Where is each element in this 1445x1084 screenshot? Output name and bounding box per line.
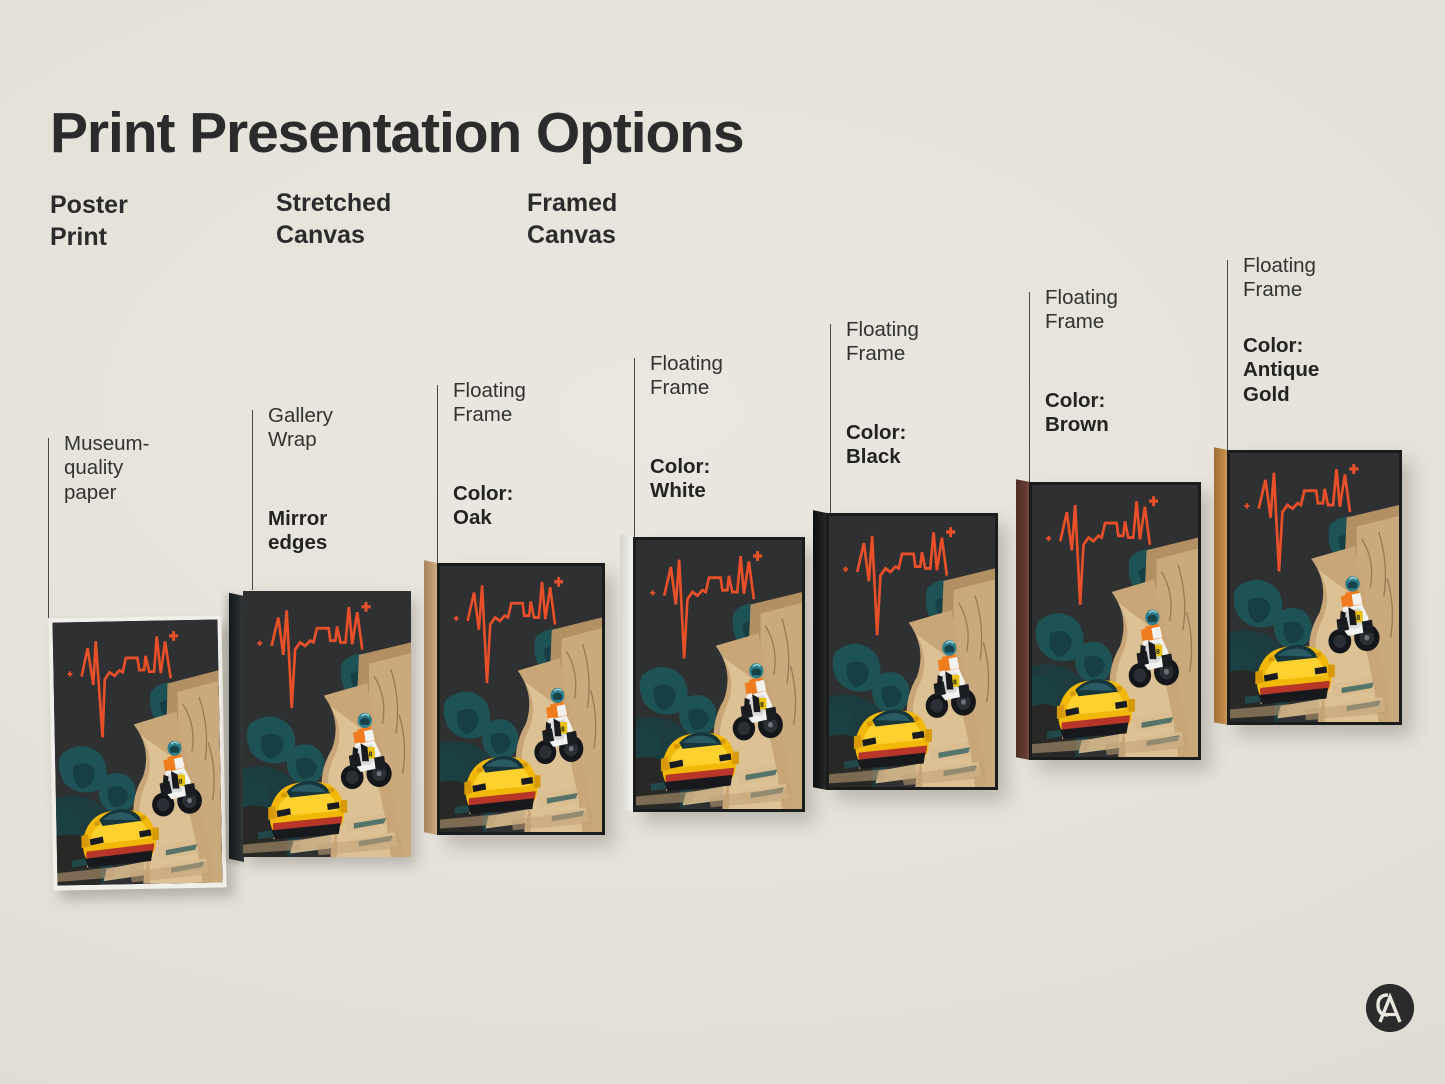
artwork-poster bbox=[52, 619, 222, 885]
leader-line bbox=[634, 358, 635, 538]
leader-line bbox=[830, 324, 831, 514]
canvas-mirror-edge bbox=[229, 593, 244, 862]
product-floating-frame-brown[interactable] bbox=[1029, 482, 1201, 760]
frame-side-white bbox=[620, 534, 634, 812]
callout-gold-sub: Color: Antique Gold bbox=[1243, 334, 1418, 407]
brand-logo bbox=[1366, 984, 1414, 1032]
frame-front-oak bbox=[437, 563, 605, 835]
product-poster-print[interactable] bbox=[48, 615, 226, 890]
leader-line bbox=[1029, 292, 1030, 482]
product-floating-frame-black[interactable] bbox=[826, 513, 998, 790]
product-floating-frame-white[interactable] bbox=[633, 537, 805, 812]
column-header-poster-print: Poster Print bbox=[50, 190, 128, 253]
callout-canvas-sub: Mirror edges bbox=[268, 507, 443, 556]
product-gallery-wrap-canvas[interactable] bbox=[243, 591, 411, 857]
leader-line bbox=[48, 438, 49, 618]
callout-brown-text: Floating Frame bbox=[1045, 286, 1220, 335]
callout-canvas-text: Gallery Wrap bbox=[268, 404, 443, 453]
callout-black-sub: Color: Black bbox=[846, 421, 1021, 470]
leader-line bbox=[1227, 260, 1228, 450]
page-title: Print Presentation Options bbox=[50, 100, 743, 166]
callout-poster-text: Museum- quality paper bbox=[64, 432, 239, 505]
callout-oak-sub: Color: Oak bbox=[453, 482, 628, 531]
callout-white-text: Floating Frame bbox=[650, 352, 825, 401]
frame-side-black bbox=[813, 510, 827, 790]
leader-line bbox=[437, 385, 438, 565]
product-floating-frame-oak[interactable] bbox=[437, 563, 605, 835]
frame-front-brown bbox=[1029, 482, 1201, 760]
frame-front-gold bbox=[1227, 450, 1402, 725]
column-header-framed-canvas: Framed Canvas bbox=[527, 188, 617, 251]
frame-front-white bbox=[633, 537, 805, 812]
callout-black-text: Floating Frame bbox=[846, 318, 1021, 367]
artwork-gallery-wrap bbox=[243, 591, 411, 857]
callout-oak-text: Floating Frame bbox=[453, 379, 628, 428]
frame-front-black bbox=[826, 513, 998, 790]
column-header-stretched-canvas: Stretched Canvas bbox=[276, 188, 391, 251]
callout-white-sub: Color: White bbox=[650, 455, 825, 504]
product-floating-frame-antique-gold[interactable] bbox=[1227, 450, 1402, 725]
callout-gold-text: Floating Frame bbox=[1243, 254, 1418, 303]
leader-line bbox=[252, 410, 253, 590]
frame-side-brown bbox=[1016, 479, 1030, 760]
callout-brown-sub: Color: Brown bbox=[1045, 389, 1220, 438]
frame-side-oak bbox=[424, 560, 438, 835]
frame-side-gold bbox=[1214, 447, 1228, 725]
